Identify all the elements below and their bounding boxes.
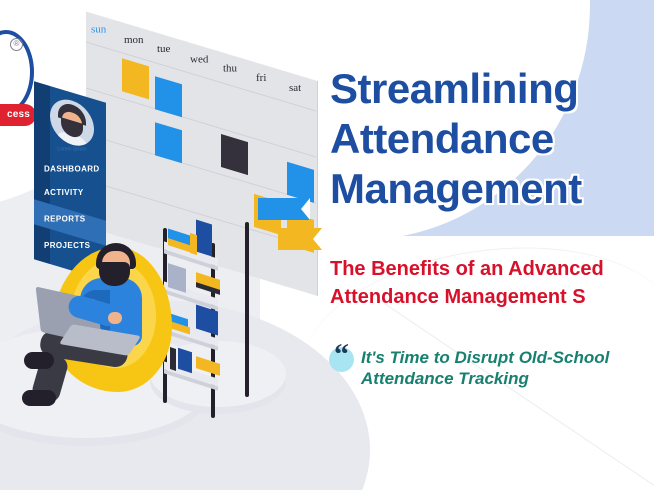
book bbox=[190, 233, 197, 255]
sidebar-item-label: ACTIVITY bbox=[44, 188, 84, 197]
avatar bbox=[50, 94, 94, 151]
calendar-day-header-tue: tue bbox=[157, 43, 170, 55]
ribbon-blue bbox=[258, 198, 310, 220]
sidebar-item-label: REPORTS bbox=[44, 214, 85, 223]
calendar-day-header-wed: wed bbox=[190, 53, 208, 65]
page-subtitle-line-1: The Benefits of an Advanced bbox=[330, 257, 604, 282]
banner-canvas: ® cess sun mon tue wed thu fri sat bbox=[0, 0, 654, 490]
page-subtitle-line-2: Attendance Management S bbox=[330, 285, 586, 310]
person-beard bbox=[99, 262, 130, 286]
registered-trademark-icon: ® bbox=[10, 38, 23, 51]
quote-mark-icon: “ bbox=[334, 340, 349, 370]
book bbox=[196, 219, 212, 256]
page-title-line-1: Streamlining bbox=[330, 66, 578, 112]
calendar-day-header-sat: sat bbox=[289, 82, 301, 94]
person-hand bbox=[108, 312, 122, 324]
calendar-day-header-fri: fri bbox=[256, 72, 266, 84]
page-title-line-3: Management bbox=[330, 166, 582, 212]
book bbox=[170, 347, 176, 371]
calendar-column-fri bbox=[251, 61, 285, 286]
logo-badge: cess bbox=[0, 104, 36, 126]
sidebar-item-label: DASHBOARD bbox=[44, 165, 100, 174]
calendar-day-header-sun: sun bbox=[91, 23, 106, 35]
book bbox=[178, 348, 192, 373]
panel-user-name: Lorem Ipsum bbox=[50, 147, 94, 153]
calendar-column-mon bbox=[119, 21, 153, 246]
ribbon-yellow bbox=[278, 228, 322, 250]
calendar-day-header-mon: mon bbox=[124, 34, 144, 46]
person-shoe-front bbox=[22, 390, 56, 406]
shelf-post-right bbox=[245, 222, 249, 397]
person-shoe-back bbox=[24, 352, 54, 369]
quote-line-2: Attendance Tracking bbox=[361, 368, 529, 389]
page-title-line-2: Attendance bbox=[330, 116, 554, 162]
sidebar-item-label: PROJECTS bbox=[44, 241, 90, 250]
calendar-day-header-thu: thu bbox=[223, 63, 237, 75]
quote-line-1: It's Time to Disrupt Old-School bbox=[361, 347, 609, 368]
